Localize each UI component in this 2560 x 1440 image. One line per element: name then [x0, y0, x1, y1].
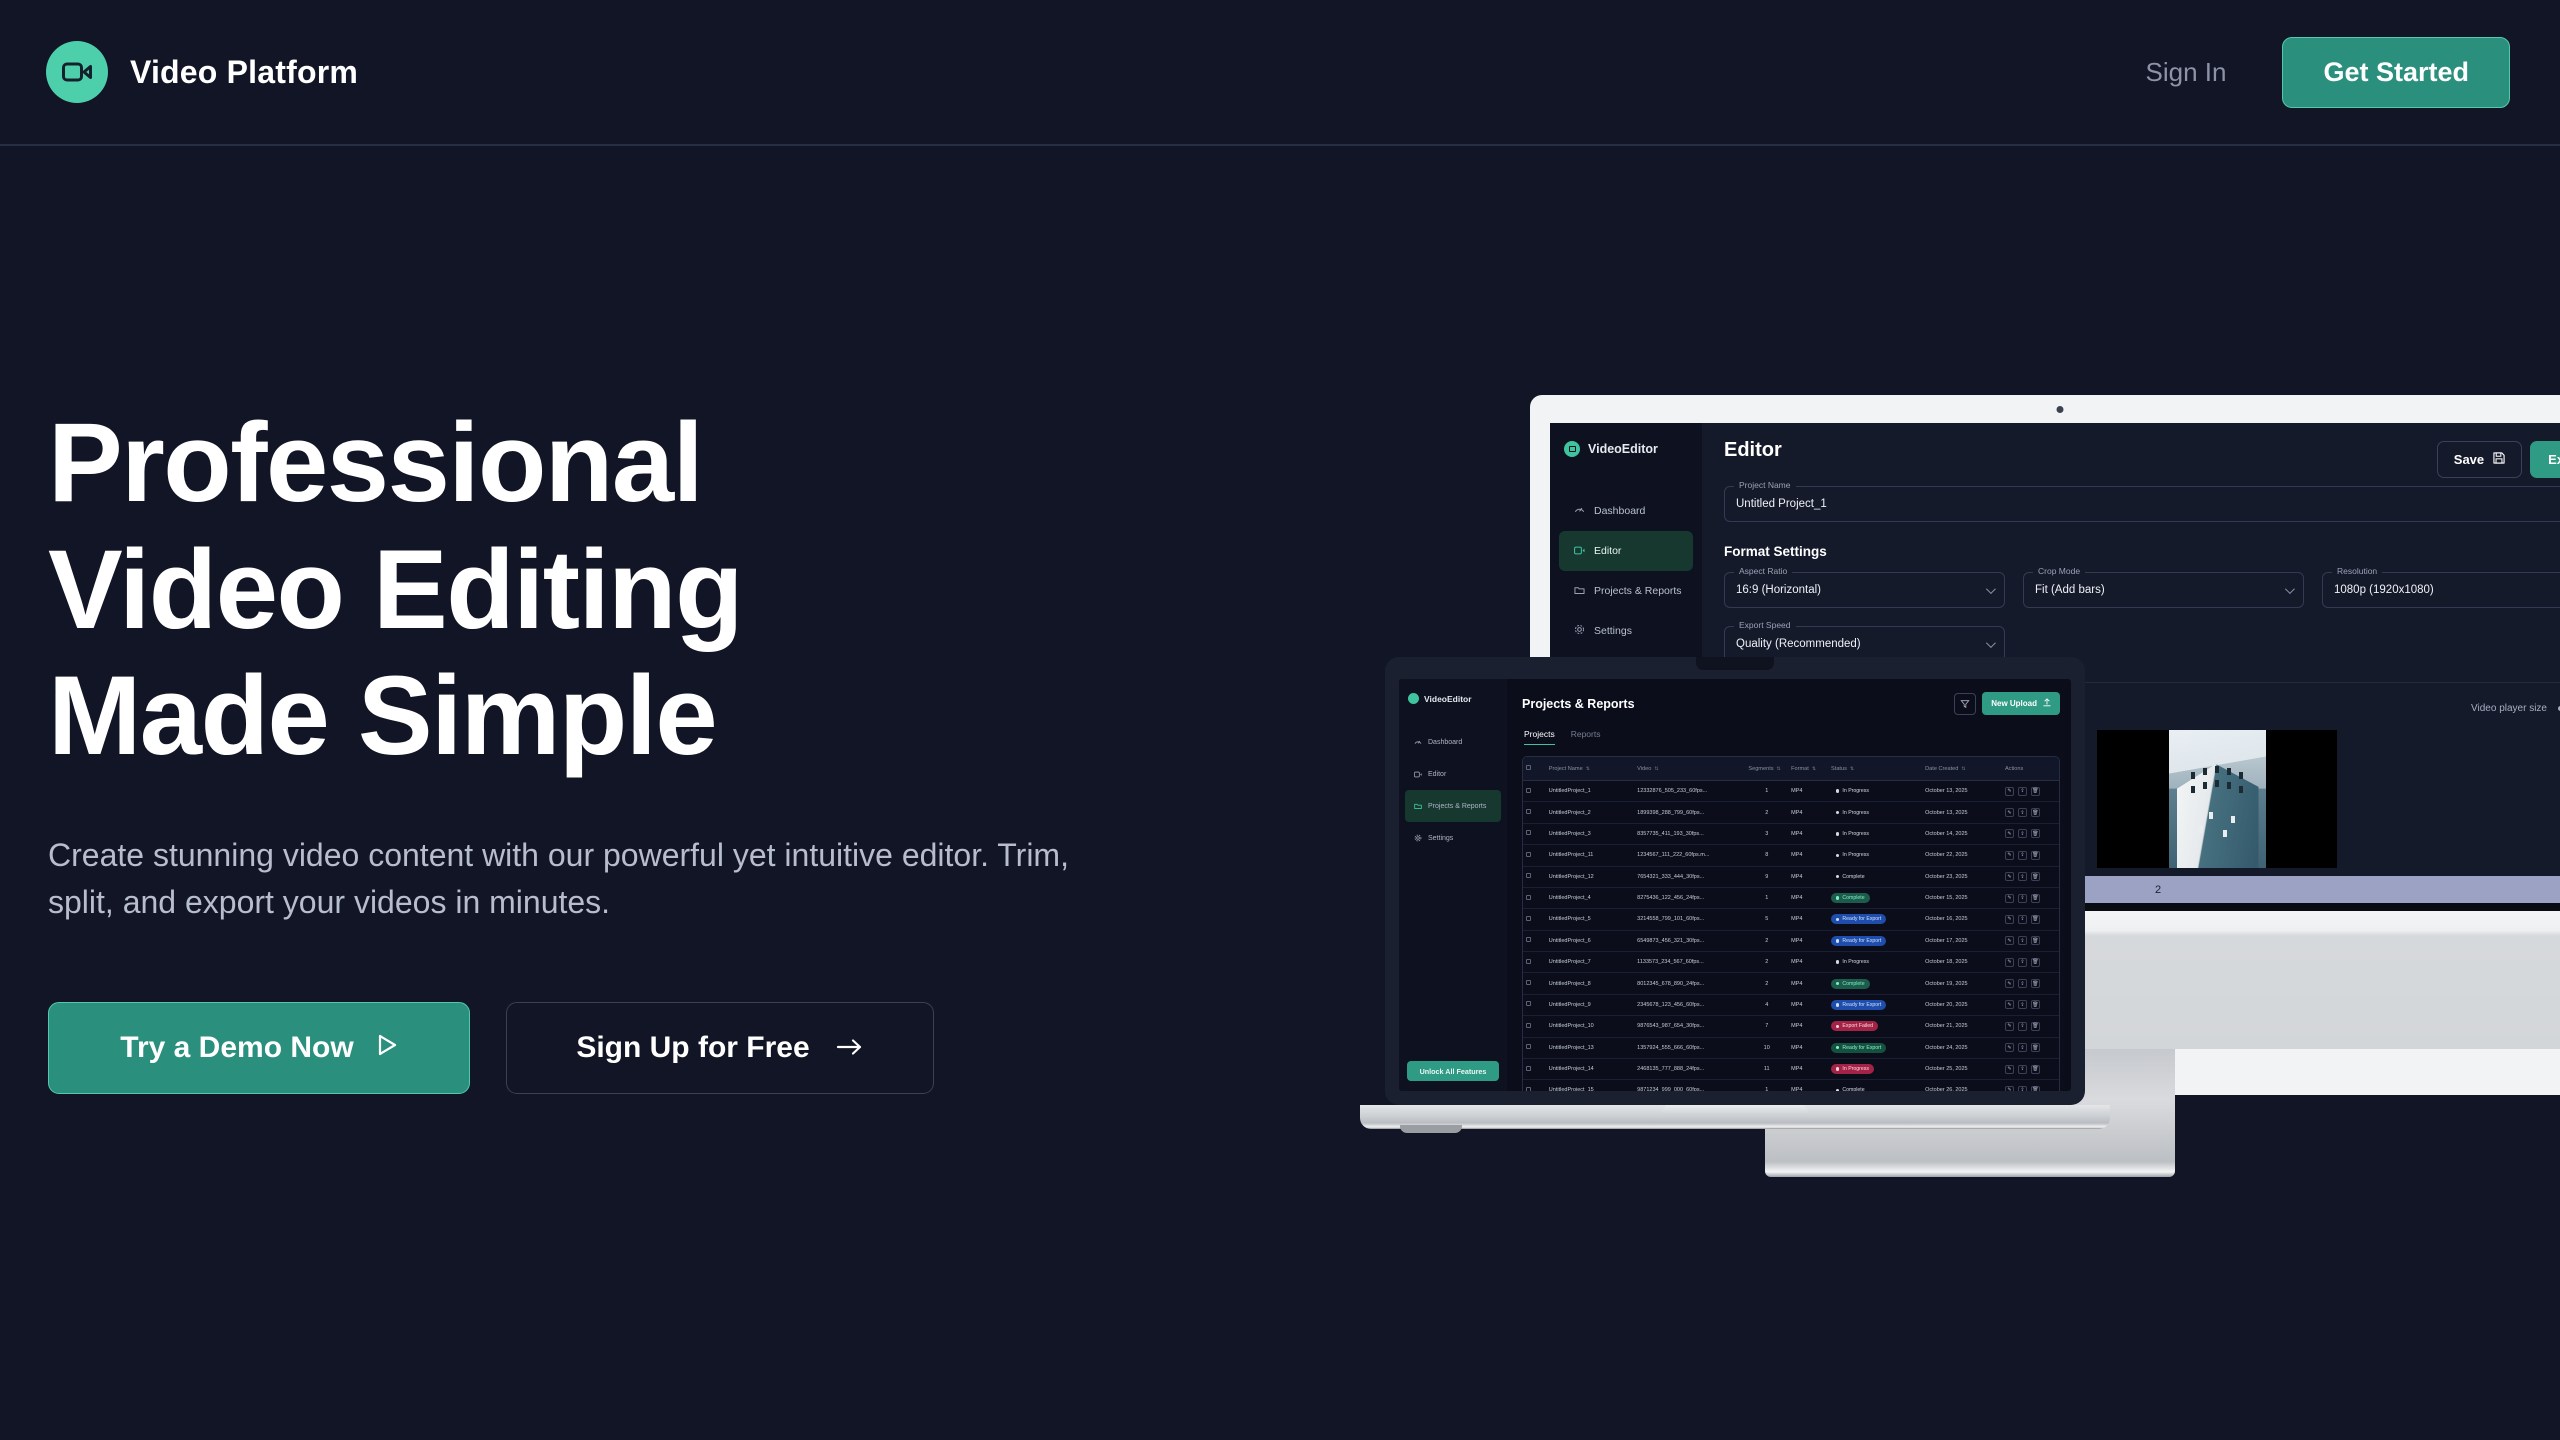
cell-status: Export Failed: [1828, 1016, 1922, 1037]
cell-segments: 10: [1745, 1037, 1788, 1058]
projects-header-actions: New Upload: [1954, 692, 2060, 715]
row-checkbox-cell[interactable]: [1523, 845, 1546, 866]
speedometer-icon: [1414, 733, 1422, 751]
edit-icon[interactable]: ✎: [2005, 872, 2014, 881]
status-badge: In Progress: [1831, 808, 1874, 818]
cell-status: Ready for Export: [1828, 1037, 1922, 1058]
editor-page-title: Editor: [1724, 439, 2560, 462]
cell-project-name: UntitledProject_8: [1546, 973, 1634, 994]
table-row[interactable]: UntitledProject_111234567_111_222_60fps.…: [1523, 845, 2059, 866]
cell-format: MP4: [1788, 802, 1828, 823]
projects-brand: VideoEditor: [1399, 693, 1507, 704]
status-dot-icon: [1836, 1003, 1839, 1006]
status-label: Complete: [1842, 1087, 1864, 1091]
status-badge: In Progress: [1831, 829, 1874, 839]
status-dot-icon: [1836, 982, 1839, 985]
cell-format: MP4: [1788, 973, 1828, 994]
cell-project-name: UntitledProject_9: [1546, 994, 1634, 1015]
status-badge: In Progress: [1831, 1064, 1874, 1074]
hero-subtitle: Create stunning video content with our p…: [48, 832, 1113, 926]
status-dot-icon: [1836, 939, 1839, 942]
edit-icon[interactable]: ✎: [2005, 1065, 2014, 1074]
checkbox-icon[interactable]: [1526, 788, 1531, 793]
export-icon[interactable]: ⇪: [2018, 936, 2027, 945]
video-camera-icon: [1564, 441, 1580, 457]
checkbox-icon[interactable]: [1526, 959, 1531, 964]
sort-icon[interactable]: ⇅: [1654, 766, 1658, 772]
col-label: Actions: [2005, 766, 2023, 772]
cell-date-created: October 13, 2025: [1922, 781, 2002, 802]
row-checkbox-cell[interactable]: [1523, 1080, 1546, 1091]
row-checkbox-cell[interactable]: [1523, 887, 1546, 908]
col-date-created[interactable]: Date Created⇅: [1922, 757, 2002, 781]
cell-format: MP4: [1788, 952, 1828, 973]
cell-segments: 8: [1745, 845, 1788, 866]
cell-project-name: UntitledProject_10: [1546, 1016, 1634, 1037]
cell-actions: ✎⇪🗑: [2002, 994, 2059, 1015]
status-dot-icon: [1836, 918, 1839, 921]
cell-format: MP4: [1788, 994, 1828, 1015]
export-button[interactable]: Exp: [2530, 441, 2560, 478]
status-dot-icon: [1836, 875, 1839, 878]
sort-icon[interactable]: ⇅: [1961, 766, 1965, 772]
sidebar-item-editor[interactable]: Editor: [1405, 758, 1501, 790]
cell-project-name: UntitledProject_5: [1546, 909, 1634, 930]
sidebar-item-settings[interactable]: Settings: [1405, 822, 1501, 854]
editor-brand-label: VideoEditor: [1588, 442, 1658, 456]
cell-date-created: October 18, 2025: [1922, 952, 2002, 973]
cell-date-created: October 15, 2025: [1922, 887, 2002, 908]
hero-section: Professional Video Editing Made Simple C…: [48, 400, 1148, 1094]
cell-video: 12332876_505_233_60fps...: [1634, 781, 1745, 802]
cell-segments: 1: [1745, 781, 1788, 802]
export-icon[interactable]: ⇪: [2018, 958, 2027, 967]
export-icon[interactable]: ⇪: [2018, 1065, 2027, 1074]
cell-date-created: October 26, 2025: [1922, 1080, 2002, 1091]
cell-format: MP4: [1788, 1080, 1828, 1091]
delete-icon[interactable]: 🗑: [2031, 1000, 2040, 1009]
building-photo: [2169, 730, 2266, 868]
status-badge: Complete: [1831, 979, 1870, 989]
status-label: Complete: [1842, 981, 1864, 987]
cell-status: In Progress: [1828, 1058, 1922, 1079]
delete-icon[interactable]: 🗑: [2031, 1086, 2040, 1091]
sidebar-item-dashboard[interactable]: Dashboard: [1559, 491, 1693, 531]
cell-status: In Progress: [1828, 781, 1922, 802]
cell-format: MP4: [1788, 845, 1828, 866]
export-icon[interactable]: ⇪: [2018, 829, 2027, 838]
cell-segments: 9: [1745, 866, 1788, 887]
row-checkbox-cell[interactable]: [1523, 802, 1546, 823]
col-segments[interactable]: Segments⇅: [1745, 757, 1788, 781]
status-badge: In Progress: [1831, 957, 1874, 967]
cell-project-name: UntitledProject_6: [1546, 930, 1634, 951]
laptop-notch: [1696, 657, 1774, 670]
video-camera-icon: [1414, 765, 1422, 783]
cell-status: In Progress: [1828, 802, 1922, 823]
table-row[interactable]: UntitledProject_112332876_505_233_60fps.…: [1523, 781, 2059, 802]
projects-sidebar: VideoEditor Dashboard Editor Projects & …: [1399, 679, 1507, 1091]
status-dot-icon: [1836, 832, 1839, 835]
cell-project-name: UntitledProject_12: [1546, 866, 1634, 887]
delete-icon[interactable]: 🗑: [2031, 787, 2040, 796]
try-demo-button[interactable]: Try a Demo Now: [48, 1002, 470, 1094]
floppy-disk-icon: [2493, 452, 2505, 467]
status-dot-icon: [1836, 1025, 1839, 1028]
edit-icon[interactable]: ✎: [2005, 1022, 2014, 1031]
video-camera-icon: [1574, 542, 1585, 560]
checkbox-icon[interactable]: [1526, 1066, 1531, 1071]
tab-projects[interactable]: Projects: [1524, 729, 1555, 745]
export-icon[interactable]: ⇪: [2018, 1086, 2027, 1091]
sign-in-link[interactable]: Sign In: [2146, 57, 2227, 88]
edit-icon[interactable]: ✎: [2005, 808, 2014, 817]
export-icon[interactable]: ⇪: [2018, 872, 2027, 881]
status-label: In Progress: [1842, 810, 1869, 816]
cell-project-name: UntitledProject_3: [1546, 823, 1634, 844]
col-project-name[interactable]: Project Name⇅: [1546, 757, 1634, 781]
site-header: Video Platform Sign In Get Started: [0, 0, 2560, 146]
sidebar-item-label: Projects & Reports: [1594, 585, 1682, 597]
cell-project-name: UntitledProject_14: [1546, 1058, 1634, 1079]
resolution-select[interactable]: Resolution 1080p (1920x1080): [2322, 572, 2560, 608]
table-row[interactable]: UntitledProject_38357735_411_193_30fps..…: [1523, 823, 2059, 844]
status-label: In Progress: [1842, 831, 1869, 837]
cell-project-name: UntitledProject_15: [1546, 1080, 1634, 1091]
cell-format: MP4: [1788, 781, 1828, 802]
status-badge: Complete: [1831, 893, 1870, 903]
delete-icon[interactable]: 🗑: [2031, 851, 2040, 860]
edit-icon[interactable]: ✎: [2005, 958, 2014, 967]
try-demo-label: Try a Demo Now: [120, 1031, 353, 1065]
cell-date-created: October 20, 2025: [1922, 994, 2002, 1015]
cell-actions: ✎⇪🗑: [2002, 866, 2059, 887]
edit-icon[interactable]: ✎: [2005, 829, 2014, 838]
cell-date-created: October 16, 2025: [1922, 909, 2002, 930]
page-title: Professional Video Editing Made Simple: [48, 400, 1148, 780]
format-settings-grid: Aspect Ratio 16:9 (Horizontal) Crop Mode…: [1724, 572, 2560, 662]
status-badge: In Progress: [1831, 850, 1874, 860]
delete-icon[interactable]: 🗑: [2031, 1022, 2040, 1031]
cell-actions: ✎⇪🗑: [2002, 802, 2059, 823]
row-checkbox-cell[interactable]: [1523, 1016, 1546, 1037]
col-video[interactable]: Video⇅: [1634, 757, 1745, 781]
speedometer-icon: [1574, 502, 1585, 520]
cell-segments: 5: [1745, 909, 1788, 930]
sidebar-item-label: Editor: [1428, 771, 1446, 778]
cell-status: In Progress: [1828, 845, 1922, 866]
brand-logo[interactable]: Video Platform: [46, 41, 358, 103]
cell-video: 9871234_999_000_60fps...: [1634, 1080, 1745, 1091]
cell-video: 1234567_111_222_60fps.m...: [1634, 845, 1745, 866]
folder-icon: [1574, 582, 1585, 600]
project-name-label: Project Name: [1734, 480, 1796, 490]
projects-app-screen: VideoEditor Dashboard Editor Projects & …: [1399, 679, 2071, 1091]
cell-actions: ✎⇪🗑: [2002, 887, 2059, 908]
cell-date-created: October 14, 2025: [1922, 823, 2002, 844]
video-camera-icon: [46, 41, 108, 103]
project-name-value: Untitled Project_1: [1736, 498, 1827, 510]
cell-project-name: UntitledProject_11: [1546, 845, 1634, 866]
cell-status: Ready for Export: [1828, 994, 1922, 1015]
checkbox-icon[interactable]: [1526, 830, 1531, 835]
checkbox-icon[interactable]: [1526, 1044, 1531, 1049]
status-label: Ready for Export: [1842, 1045, 1881, 1051]
unlock-all-features-button[interactable]: Unlock All Features: [1407, 1061, 1499, 1081]
cell-video: 2345678_123_456_60fps...: [1634, 994, 1745, 1015]
checkbox-icon[interactable]: [1526, 937, 1531, 942]
delete-icon[interactable]: 🗑: [2031, 979, 2040, 988]
cell-actions: ✎⇪🗑: [2002, 973, 2059, 994]
sidebar-item-projects-reports[interactable]: Projects & Reports: [1559, 571, 1693, 611]
row-checkbox-cell[interactable]: [1523, 973, 1546, 994]
status-label: Export Failed: [1842, 1023, 1873, 1029]
signup-free-button[interactable]: Sign Up for Free: [506, 1002, 934, 1094]
delete-icon[interactable]: 🗑: [2031, 829, 2040, 838]
delete-icon[interactable]: 🗑: [2031, 894, 2040, 903]
table-row[interactable]: UntitledProject_48275436_122_456_24fps..…: [1523, 887, 2059, 908]
cell-status: In Progress: [1828, 823, 1922, 844]
sort-icon[interactable]: ⇅: [1586, 766, 1590, 772]
projects-page-title: Projects & Reports: [1522, 697, 1635, 711]
cell-actions: ✎⇪🗑: [2002, 1080, 2059, 1091]
cell-video: 1133573_234_567_60fps...: [1634, 952, 1745, 973]
laptop-mockup: VideoEditor Dashboard Editor Projects & …: [1360, 657, 2150, 1157]
table-row[interactable]: UntitledProject_109876543_987_654_30fps.…: [1523, 1016, 2059, 1037]
format-settings-heading: Format Settings: [1724, 544, 2560, 559]
edit-icon[interactable]: ✎: [2005, 1000, 2014, 1009]
table-row[interactable]: UntitledProject_92345678_123_456_60fps..…: [1523, 994, 2059, 1015]
edit-icon[interactable]: ✎: [2005, 979, 2014, 988]
cell-project-name: UntitledProject_1: [1546, 781, 1634, 802]
table-row[interactable]: UntitledProject_159871234_999_000_60fps.…: [1523, 1080, 2059, 1091]
header-actions: Sign In Get Started: [2146, 37, 2511, 108]
sidebar-item-settings[interactable]: Settings: [1559, 611, 1693, 651]
sidebar-item-label: Dashboard: [1428, 739, 1462, 746]
hero-title-line-3: Made Simple: [48, 653, 1148, 780]
col-format[interactable]: Format⇅: [1788, 757, 1828, 781]
cell-actions: ✎⇪🗑: [2002, 823, 2059, 844]
laptop-lid: VideoEditor Dashboard Editor Projects & …: [1385, 657, 2085, 1105]
tab-reports[interactable]: Reports: [1571, 729, 1601, 745]
export-icon[interactable]: ⇪: [2018, 851, 2027, 860]
status-badge: Export Failed: [1831, 1021, 1878, 1031]
aspect-ratio-value: 16:9 (Horizontal): [1736, 584, 1821, 596]
row-checkbox-cell[interactable]: [1523, 994, 1546, 1015]
cell-status: Ready for Export: [1828, 930, 1922, 951]
row-checkbox-cell[interactable]: [1523, 952, 1546, 973]
checkbox-icon[interactable]: [1526, 980, 1531, 985]
export-icon[interactable]: ⇪: [2018, 915, 2027, 924]
cell-video: 9876543_987_654_30fps...: [1634, 1016, 1745, 1037]
status-dot-icon: [1836, 1067, 1839, 1070]
cell-status: In Progress: [1828, 952, 1922, 973]
delete-icon[interactable]: 🗑: [2031, 872, 2040, 881]
save-button[interactable]: Save: [2437, 441, 2522, 478]
export-icon[interactable]: ⇪: [2018, 894, 2027, 903]
col-label: Segments: [1748, 766, 1773, 772]
sidebar-item-projects-reports[interactable]: Projects & Reports: [1405, 790, 1501, 822]
status-dot-icon: [1836, 960, 1839, 963]
cell-actions: ✎⇪🗑: [2002, 1058, 2059, 1079]
cell-date-created: October 13, 2025: [1922, 802, 2002, 823]
aspect-ratio-select[interactable]: Aspect Ratio 16:9 (Horizontal): [1724, 572, 2005, 608]
aspect-ratio-label: Aspect Ratio: [1734, 566, 1792, 576]
funnel-icon[interactable]: [1954, 693, 1976, 715]
cell-format: MP4: [1788, 1016, 1828, 1037]
status-dot-icon: [1836, 789, 1839, 792]
delete-icon[interactable]: 🗑: [2031, 958, 2040, 967]
delete-icon[interactable]: 🗑: [2031, 1065, 2040, 1074]
device-mockups: VideoEditor Dashboard Editor Projects & …: [1360, 395, 2560, 1195]
cell-video: 7654321_333_444_30fps...: [1634, 866, 1745, 887]
checkbox-icon[interactable]: [1526, 1087, 1531, 1091]
crop-mode-value: Fit (Add bars): [2035, 584, 2105, 596]
sidebar-item-label: Settings: [1428, 835, 1453, 842]
col-status[interactable]: Status⇅: [1828, 757, 1922, 781]
cell-date-created: October 24, 2025: [1922, 1037, 2002, 1058]
cell-actions: ✎⇪🗑: [2002, 1016, 2059, 1037]
status-badge: Ready for Export: [1831, 914, 1886, 924]
export-speed-value: Quality (Recommended): [1736, 638, 1861, 650]
col-label: Status: [1831, 766, 1847, 772]
folder-icon: [1414, 797, 1422, 815]
crop-mode-select[interactable]: Crop Mode Fit (Add bars): [2023, 572, 2304, 608]
table-row[interactable]: UntitledProject_127654321_333_444_30fps.…: [1523, 866, 2059, 887]
project-name-field[interactable]: Project Name Untitled Project_1: [1724, 486, 2560, 522]
table-row[interactable]: UntitledProject_142468135_777_888_24fps.…: [1523, 1058, 2059, 1079]
table-row[interactable]: UntitledProject_53214558_799_101_60fps..…: [1523, 909, 2059, 930]
status-label: Complete: [1842, 874, 1864, 880]
cell-segments: 2: [1745, 973, 1788, 994]
row-checkbox-cell[interactable]: [1523, 1058, 1546, 1079]
new-upload-button[interactable]: New Upload: [1982, 692, 2060, 715]
edit-icon[interactable]: ✎: [2005, 894, 2014, 903]
cell-format: MP4: [1788, 1037, 1828, 1058]
cell-status: Complete: [1828, 887, 1922, 908]
edit-icon[interactable]: ✎: [2005, 851, 2014, 860]
projects-table-wrapper: Project Name⇅ Video⇅ Segments⇅ Format⇅ S…: [1522, 756, 2060, 1091]
table-row[interactable]: UntitledProject_131357924_555_666_60fps.…: [1523, 1037, 2059, 1058]
cell-actions: ✎⇪🗑: [2002, 781, 2059, 802]
sort-icon[interactable]: ⇅: [1777, 766, 1781, 772]
cell-status: Complete: [1828, 866, 1922, 887]
sort-icon[interactable]: ⇅: [1850, 766, 1854, 772]
resolution-value: 1080p (1920x1080): [2334, 584, 2434, 596]
export-speed-label: Export Speed: [1734, 620, 1796, 630]
cell-actions: ✎⇪🗑: [2002, 930, 2059, 951]
checkbox-icon[interactable]: [1526, 895, 1531, 900]
table-row[interactable]: UntitledProject_66549873_456_321_30fps..…: [1523, 930, 2059, 951]
cell-date-created: October 19, 2025: [1922, 973, 2002, 994]
export-icon[interactable]: ⇪: [2018, 979, 2027, 988]
edit-icon[interactable]: ✎: [2005, 1086, 2014, 1091]
table-header-row: Project Name⇅ Video⇅ Segments⇅ Format⇅ S…: [1523, 757, 2059, 781]
table-row[interactable]: UntitledProject_21899398_288_799_60fps..…: [1523, 802, 2059, 823]
video-player-size-label: Video player size: [2471, 703, 2547, 714]
gear-icon: [1574, 622, 1585, 640]
row-checkbox-cell[interactable]: [1523, 909, 1546, 930]
delete-icon[interactable]: 🗑: [2031, 1043, 2040, 1052]
checkbox-icon[interactable]: [1526, 809, 1531, 814]
get-started-button[interactable]: Get Started: [2282, 37, 2510, 108]
projects-header: Projects & Reports New Upload: [1522, 692, 2060, 715]
sidebar-item-label: Projects & Reports: [1428, 803, 1486, 810]
cell-actions: ✎⇪🗑: [2002, 952, 2059, 973]
checkbox-icon[interactable]: [1526, 852, 1531, 857]
checkbox-icon[interactable]: [1526, 1023, 1531, 1028]
table-row[interactable]: UntitledProject_71133573_234_567_60fps..…: [1523, 952, 2059, 973]
video-camera-icon: [1408, 693, 1419, 704]
checkbox-icon[interactable]: [1526, 765, 1531, 770]
edit-icon[interactable]: ✎: [2005, 915, 2014, 924]
delete-icon[interactable]: 🗑: [2031, 808, 2040, 817]
cell-video: 8357735_411_193_30fps...: [1634, 823, 1745, 844]
play-triangle-icon: [376, 1031, 398, 1065]
edit-icon[interactable]: ✎: [2005, 936, 2014, 945]
cell-video: 2468135_777_888_24fps...: [1634, 1058, 1745, 1079]
cell-video: 1357924_555_666_60fps...: [1634, 1037, 1745, 1058]
sort-icon[interactable]: ⇅: [1812, 766, 1816, 772]
sidebar-item-dashboard[interactable]: Dashboard: [1405, 726, 1501, 758]
cell-project-name: UntitledProject_13: [1546, 1037, 1634, 1058]
crop-mode-label: Crop Mode: [2033, 566, 2085, 576]
gear-icon: [1414, 829, 1422, 847]
export-icon[interactable]: ⇪: [2018, 808, 2027, 817]
col-label: Project Name: [1549, 766, 1583, 772]
chevron-down-icon: [2285, 584, 2295, 594]
sidebar-item-editor[interactable]: Editor: [1559, 531, 1693, 571]
cell-video: 3214558_799_101_60fps...: [1634, 909, 1745, 930]
status-label: In Progress: [1842, 788, 1869, 794]
chevron-down-icon: [1986, 638, 1996, 648]
status-label: Complete: [1842, 895, 1864, 901]
projects-table: Project Name⇅ Video⇅ Segments⇅ Format⇅ S…: [1523, 757, 2059, 1091]
resolution-label: Resolution: [2332, 566, 2382, 576]
cell-video: 6549873_456_321_30fps...: [1634, 930, 1745, 951]
editor-top-actions: Save Exp: [2437, 441, 2560, 478]
sidebar-item-label: Settings: [1594, 625, 1632, 637]
row-checkbox-cell[interactable]: [1523, 1037, 1546, 1058]
export-icon[interactable]: ⇪: [2018, 787, 2027, 796]
status-label: Ready for Export: [1842, 916, 1881, 922]
export-icon[interactable]: ⇪: [2018, 1043, 2027, 1052]
row-checkbox-cell[interactable]: [1523, 781, 1546, 802]
upload-icon: [2043, 698, 2051, 709]
row-checkbox-cell[interactable]: [1523, 866, 1546, 887]
status-label: Ready for Export: [1842, 938, 1881, 944]
cell-status: Ready for Export: [1828, 909, 1922, 930]
checkbox-icon[interactable]: [1526, 873, 1531, 878]
col-actions: Actions: [2002, 757, 2059, 781]
select-all-header[interactable]: [1523, 757, 1546, 781]
projects-tabs: Projects Reports: [1522, 729, 2060, 745]
cell-segments: 1: [1745, 1080, 1788, 1091]
checkbox-icon[interactable]: [1526, 1001, 1531, 1006]
cell-format: MP4: [1788, 823, 1828, 844]
export-icon[interactable]: ⇪: [2018, 1022, 2027, 1031]
edit-icon[interactable]: ✎: [2005, 1043, 2014, 1052]
delete-icon[interactable]: 🗑: [2031, 915, 2040, 924]
status-badge: In Progress: [1831, 786, 1874, 796]
checkbox-icon[interactable]: [1526, 916, 1531, 921]
export-icon[interactable]: ⇪: [2018, 1000, 2027, 1009]
edit-icon[interactable]: ✎: [2005, 787, 2014, 796]
table-row[interactable]: UntitledProject_88012345_678_890_24fps..…: [1523, 973, 2059, 994]
row-checkbox-cell[interactable]: [1523, 823, 1546, 844]
row-checkbox-cell[interactable]: [1523, 930, 1546, 951]
delete-icon[interactable]: 🗑: [2031, 936, 2040, 945]
